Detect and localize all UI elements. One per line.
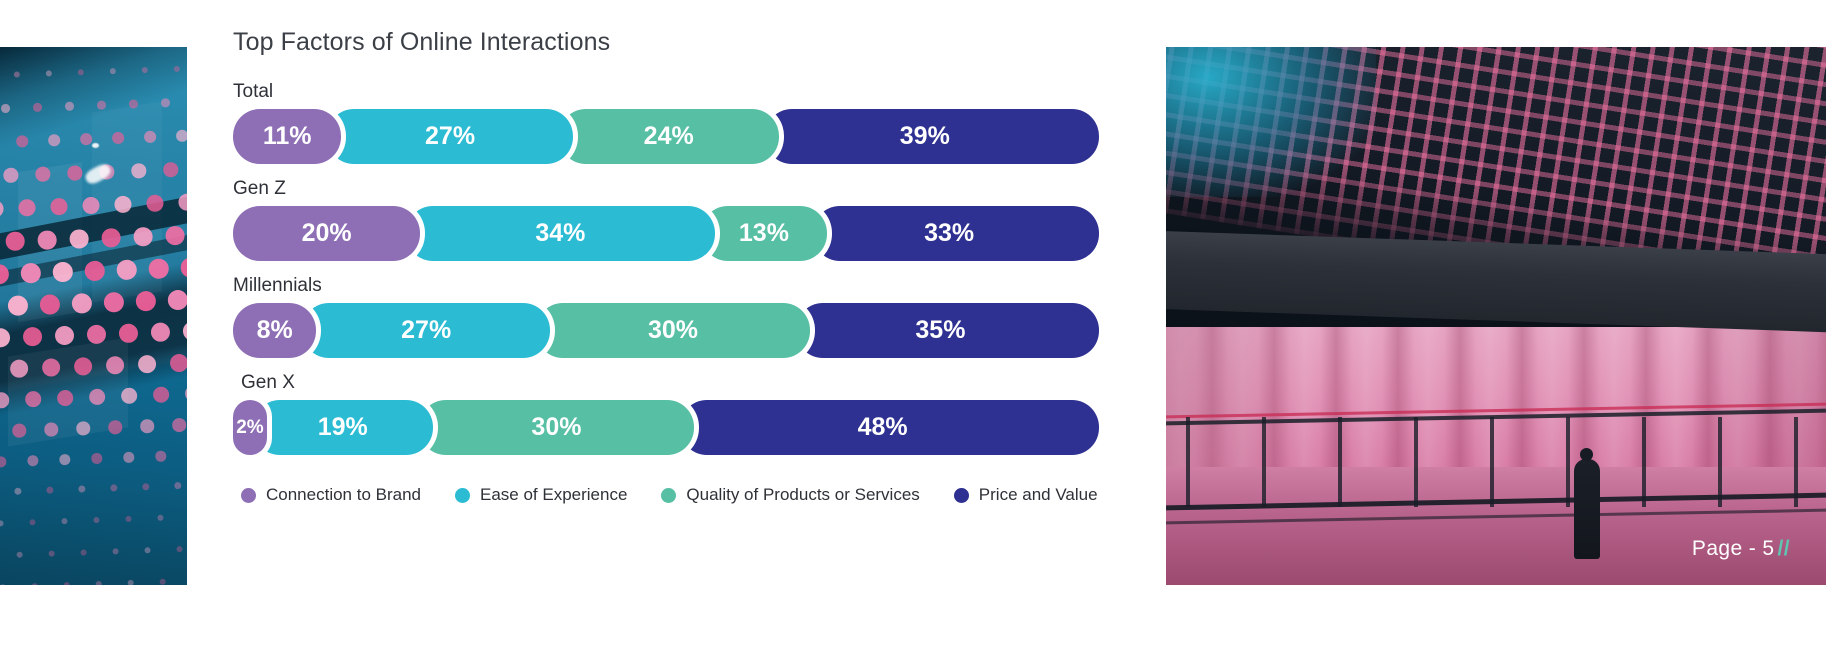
decorative-dot <box>16 135 28 147</box>
bar-segment-value: 30% <box>644 316 702 345</box>
decorative-dot <box>153 386 170 403</box>
decorative-dot <box>72 293 93 314</box>
legend-item[interactable]: Quality of Products or Services <box>661 485 919 505</box>
decorative-dot <box>138 355 157 374</box>
decorative-dot <box>12 423 26 437</box>
bar-segment-value: 35% <box>911 316 983 345</box>
decorative-dot <box>78 69 84 75</box>
decorative-dot <box>163 162 178 177</box>
railing-post <box>1186 417 1190 507</box>
decorative-dot <box>142 67 148 73</box>
bar-segment[interactable]: 27% <box>302 303 550 358</box>
railing-post <box>1338 417 1342 507</box>
decorative-dot <box>0 328 11 348</box>
legend-color-swatch-icon <box>455 488 470 503</box>
decorative-dot <box>67 165 82 180</box>
bar-segment[interactable]: 2% <box>233 400 267 455</box>
bar-segment-value: 11% <box>259 122 316 151</box>
legend-item[interactable]: Ease of Experience <box>455 485 627 505</box>
legend-color-swatch-icon <box>954 488 969 503</box>
decorative-dot <box>35 166 50 181</box>
decorative-dot <box>23 327 43 347</box>
decorative-dot <box>144 547 150 553</box>
decorative-dot <box>27 455 38 466</box>
bar-category-label: Millennials <box>233 275 1093 297</box>
decorative-dot <box>50 198 67 215</box>
decorative-dot <box>174 66 180 72</box>
right-decorative-image: Page - 5// <box>1166 47 1826 585</box>
left-image-light-streak <box>92 143 99 148</box>
decorative-dot <box>61 518 67 524</box>
decorative-dot <box>65 102 74 111</box>
legend-label: Quality of Products or Services <box>686 485 919 505</box>
left-image-dot-pattern <box>0 47 187 585</box>
decorative-dot <box>170 354 187 373</box>
decorative-dot <box>32 583 38 585</box>
decorative-dot <box>14 488 22 496</box>
bar-category-label: Gen Z <box>233 178 1093 200</box>
decorative-dot <box>93 517 99 523</box>
railing-post <box>1718 417 1722 507</box>
bar-track: 8%27%30%35% <box>233 303 1099 358</box>
left-decorative-image <box>0 47 187 585</box>
decorative-dot <box>17 552 23 558</box>
decorative-dot <box>0 200 4 217</box>
decorative-dot <box>114 196 131 213</box>
decorative-dot <box>0 520 4 526</box>
decorative-dot <box>129 99 138 108</box>
decorative-dot <box>104 292 125 313</box>
decorative-dot <box>140 419 154 433</box>
decorative-dot <box>108 420 122 434</box>
decorative-dot <box>172 418 186 432</box>
decorative-dot <box>84 261 104 281</box>
railing-post <box>1262 417 1266 507</box>
decorative-dot <box>20 263 40 283</box>
decorative-dot <box>178 193 187 210</box>
decorative-dot <box>160 579 166 585</box>
decorative-dot <box>146 195 163 212</box>
decorative-dot <box>91 453 102 464</box>
bar-segment[interactable]: 8% <box>233 303 316 358</box>
decorative-dot <box>1 104 10 113</box>
decorative-dot <box>174 482 182 490</box>
decorative-dot <box>148 258 168 278</box>
bar-segment-value: 2% <box>236 417 263 439</box>
decorative-dot <box>133 227 152 246</box>
bar-group: Total11%27%24%39% <box>233 81 1093 164</box>
legend-item[interactable]: Price and Value <box>954 485 1098 505</box>
decorative-dot <box>42 358 61 377</box>
decorative-dot <box>46 487 54 495</box>
bar-track: 11%27%24%39% <box>233 109 1099 164</box>
decorative-dot <box>151 322 171 342</box>
bar-segment-value: 13% <box>735 219 793 248</box>
bar-segment-value: 48% <box>854 413 926 442</box>
bar-segment[interactable]: 11% <box>233 109 341 164</box>
decorative-dot <box>125 516 131 522</box>
decorative-dot <box>157 515 163 521</box>
bar-segment-value: 8% <box>253 316 297 345</box>
decorative-dot <box>144 131 156 143</box>
decorative-dot <box>136 291 157 312</box>
decorative-dot <box>8 295 29 316</box>
legend-color-swatch-icon <box>241 488 256 503</box>
bar-segment-value: 39% <box>896 122 968 151</box>
decorative-dot <box>44 422 58 436</box>
decorative-dot <box>176 546 182 552</box>
decorative-dot <box>176 130 187 142</box>
bar-segment-value: 19% <box>314 413 372 442</box>
bar-segment[interactable]: 34% <box>406 206 714 261</box>
decorative-dot <box>33 103 42 112</box>
bar-segment[interactable]: 27% <box>327 109 573 164</box>
decorative-dot <box>18 199 35 216</box>
decorative-dot <box>80 549 86 555</box>
decorative-dot <box>131 163 146 178</box>
decorative-dot <box>69 229 88 248</box>
bar-segment-value: 30% <box>527 413 585 442</box>
page-number-slashes: // <box>1778 537 1790 560</box>
bar-segment[interactable]: 20% <box>233 206 420 261</box>
decorative-dot <box>29 519 35 525</box>
page-number: Page - 5// <box>1692 537 1790 561</box>
decorative-dot <box>110 68 116 74</box>
decorative-dot <box>25 391 42 408</box>
decorative-dot <box>168 290 187 311</box>
bar-category-label: Gen X <box>233 372 1093 394</box>
bar-track: 2%19%30%48% <box>233 400 1099 455</box>
decorative-dot <box>49 551 55 557</box>
decorative-dot <box>106 356 125 375</box>
decorative-dot <box>74 357 93 376</box>
decorative-dot <box>97 100 106 109</box>
bar-segment-value: 34% <box>531 219 589 248</box>
decorative-dot <box>5 231 24 250</box>
bar-group: Gen X2%19%30%48% <box>233 372 1093 455</box>
decorative-dot <box>112 132 124 144</box>
chart-title: Top Factors of Online Interactions <box>233 28 1093 57</box>
decorative-dot <box>119 323 139 343</box>
legend-item[interactable]: Connection to Brand <box>241 485 421 505</box>
slide-canvas: Top Factors of Online Interactions Total… <box>0 0 1826 667</box>
decorative-dot <box>3 168 18 183</box>
decorative-dot <box>37 230 56 249</box>
legend-label: Ease of Experience <box>480 485 627 505</box>
bar-segment[interactable]: 48% <box>680 400 1099 455</box>
decorative-dot <box>180 257 187 277</box>
bar-group: Millennials8%27%30%35% <box>233 275 1093 358</box>
bar-segment[interactable]: 30% <box>419 400 695 455</box>
right-image-teal-glow <box>1166 47 1376 197</box>
railing-post <box>1794 417 1798 507</box>
legend-label: Connection to Brand <box>266 485 421 505</box>
legend-label: Price and Value <box>979 485 1098 505</box>
decorative-dot <box>112 548 118 554</box>
bar-segment-value: 20% <box>298 219 356 248</box>
bar-segment[interactable]: 33% <box>813 206 1099 261</box>
decorative-dot <box>55 326 75 346</box>
bar-group: Gen Z20%34%13%33% <box>233 178 1093 261</box>
decorative-dot <box>52 262 72 282</box>
decorative-dot <box>183 321 187 341</box>
decorative-dot <box>101 228 120 247</box>
decorative-dot <box>123 452 134 463</box>
decorative-dot <box>76 421 90 435</box>
decorative-dot <box>155 451 166 462</box>
decorative-dot <box>0 392 10 409</box>
decorative-dot <box>46 70 52 76</box>
decorative-dot <box>110 484 118 492</box>
page-number-text: Page - 5 <box>1692 537 1775 560</box>
bar-segment[interactable]: 39% <box>765 109 1099 164</box>
decorative-dot <box>59 454 70 465</box>
decorative-dot <box>82 197 99 214</box>
bar-track: 20%34%13%33% <box>233 206 1099 261</box>
decorative-dot <box>161 98 170 107</box>
railing-post <box>1566 417 1570 507</box>
decorative-dot <box>0 584 6 585</box>
decorative-dot <box>80 133 92 145</box>
decorative-dot <box>185 385 187 402</box>
legend-color-swatch-icon <box>661 488 676 503</box>
decorative-dot <box>48 134 60 146</box>
right-image-person-silhouette <box>1574 459 1600 559</box>
bar-segment[interactable]: 30% <box>536 303 810 358</box>
decorative-dot <box>121 388 138 405</box>
decorative-dot <box>89 389 106 406</box>
stacked-bar-chart: Total11%27%24%39%Gen Z20%34%13%33%Millen… <box>233 81 1093 455</box>
bar-segment-value: 27% <box>397 316 455 345</box>
decorative-dot <box>14 71 20 77</box>
decorative-dot <box>0 264 9 284</box>
decorative-dot <box>64 582 70 585</box>
bar-segment[interactable]: 35% <box>796 303 1099 358</box>
decorative-dot <box>78 485 86 493</box>
railing-post <box>1490 417 1494 507</box>
bar-segment[interactable]: 19% <box>253 400 433 455</box>
decorative-dot <box>128 580 134 585</box>
bar-segment-value: 24% <box>640 122 698 151</box>
bar-segment-value: 33% <box>920 219 992 248</box>
bar-segment-value: 27% <box>421 122 479 151</box>
bar-segment[interactable]: 24% <box>559 109 779 164</box>
railing-post <box>1642 417 1646 507</box>
bar-segment[interactable]: 13% <box>701 206 828 261</box>
decorative-dot <box>116 259 136 279</box>
decorative-dot <box>142 483 150 491</box>
decorative-dot <box>87 325 107 345</box>
decorative-dot <box>96 581 102 585</box>
bar-category-label: Total <box>233 81 1093 103</box>
decorative-dot <box>165 226 184 245</box>
chart-panel: Top Factors of Online Interactions Total… <box>233 28 1093 598</box>
chart-legend: Connection to BrandEase of ExperienceQua… <box>233 485 1093 505</box>
decorative-dot <box>10 359 29 378</box>
railing-post <box>1414 417 1418 507</box>
decorative-dot <box>40 294 61 315</box>
decorative-dot <box>57 390 74 407</box>
decorative-dot <box>0 456 6 467</box>
